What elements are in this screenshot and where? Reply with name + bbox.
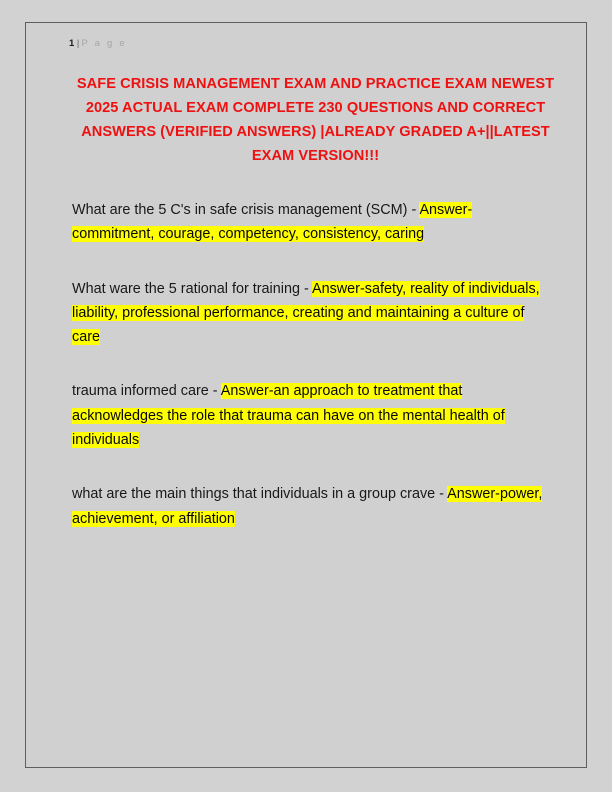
question-text: What are the 5 C's in safe crisis manage… <box>72 202 419 218</box>
qa-item: What are the 5 C's in safe crisis manage… <box>72 198 550 247</box>
page-number: 1 <box>69 38 75 49</box>
qa-item: trauma informed care - Answer-an approac… <box>72 379 550 452</box>
question-text: trauma informed care - <box>72 383 221 399</box>
qa-item: What ware the 5 rational for training - … <box>72 277 550 350</box>
document-page: 1|P a g e SAFE CRISIS MANAGEMENT EXAM AN… <box>25 22 587 768</box>
question-text: what are the main things that individual… <box>72 486 447 502</box>
page-header-label: P a g e <box>81 38 126 49</box>
page-content: 1|P a g e SAFE CRISIS MANAGEMENT EXAM AN… <box>26 23 586 767</box>
question-text: What ware the 5 rational for training - <box>72 281 312 297</box>
qa-item: what are the main things that individual… <box>72 482 550 531</box>
qa-list: What are the 5 C's in safe crisis manage… <box>69 198 564 531</box>
document-title: SAFE CRISIS MANAGEMENT EXAM AND PRACTICE… <box>69 72 562 168</box>
page-header: 1|P a g e <box>69 37 564 50</box>
